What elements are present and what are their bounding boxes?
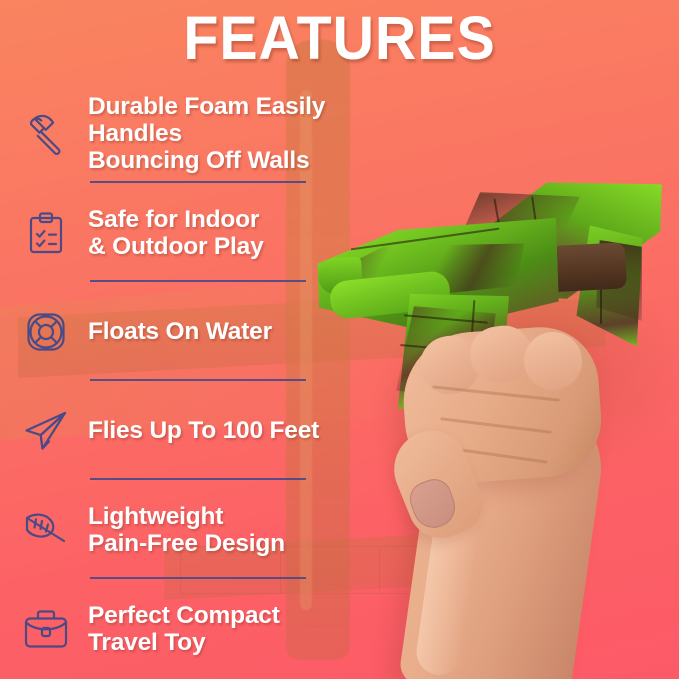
- product-shadow: [470, 300, 679, 480]
- glider-panel-line: [404, 314, 488, 323]
- page-title: FEATURES: [20, 8, 658, 68]
- clipboard-checklist-icon: [0, 209, 88, 257]
- paper-plane-icon: [0, 406, 88, 456]
- hand-fist: [399, 323, 605, 486]
- hand-crease: [440, 417, 552, 434]
- feature-label: Safe for Indoor & Outdoor Play: [88, 206, 264, 260]
- briefcase-icon: [0, 607, 88, 651]
- features-list: Durable Foam Easily Handles Bouncing Off…: [0, 84, 350, 678]
- forearm: [398, 384, 610, 679]
- glider-panel-line: [400, 344, 492, 354]
- glider-fuselage: [329, 242, 627, 303]
- feature-label: Durable Foam Easily Handles Bouncing Off…: [88, 93, 350, 174]
- hand-crease: [452, 447, 547, 463]
- glider-stabilizer-camo: [396, 306, 496, 402]
- glider-upper-wing-camo: [452, 192, 580, 272]
- glider-near-wing-camo: [335, 239, 528, 303]
- glider-stabilizer: [379, 289, 515, 420]
- feature-row-travel-toy: Perfect Compact Travel Toy: [0, 579, 350, 678]
- feature-row-durable-foam: Durable Foam Easily Handles Bouncing Off…: [0, 84, 350, 183]
- feature-label: Floats On Water: [88, 318, 272, 345]
- thumb: [382, 420, 491, 548]
- glider-tail-fin-camo: [596, 240, 642, 326]
- feature-row-lightweight: Lightweight Pain-Free Design: [0, 480, 350, 579]
- features-poster: FEATURES Durable Foam Easily Handles Bou…: [0, 0, 679, 679]
- knuckle: [413, 329, 487, 401]
- glider-panel-line: [531, 196, 543, 266]
- hand-crease: [432, 385, 560, 401]
- feature-label: Lightweight Pain-Free Design: [88, 503, 285, 557]
- forearm-highlight: [414, 406, 497, 678]
- feature-label: Perfect Compact Travel Toy: [88, 602, 350, 656]
- glider-panel-line: [493, 198, 508, 273]
- thumbnail: [405, 474, 461, 533]
- glider-near-wing: [316, 218, 560, 336]
- feather-icon: [0, 508, 88, 552]
- feature-label: Flies Up To 100 Feet: [88, 417, 319, 444]
- knuckle: [466, 322, 535, 386]
- knuckle: [523, 331, 583, 391]
- life-ring-icon: [0, 308, 88, 356]
- glider-panel-line: [467, 300, 476, 396]
- glider-upper-wing: [418, 176, 662, 302]
- glider-panel-line: [600, 244, 602, 324]
- feature-row-flies-100-feet: Flies Up To 100 Feet: [0, 381, 350, 480]
- hammer-icon: [0, 110, 88, 158]
- feature-row-safe-play: Safe for Indoor & Outdoor Play: [0, 183, 350, 282]
- feature-row-floats: Floats On Water: [0, 282, 350, 381]
- glider-tail-fin: [575, 222, 644, 351]
- glider-panel-line: [351, 228, 500, 250]
